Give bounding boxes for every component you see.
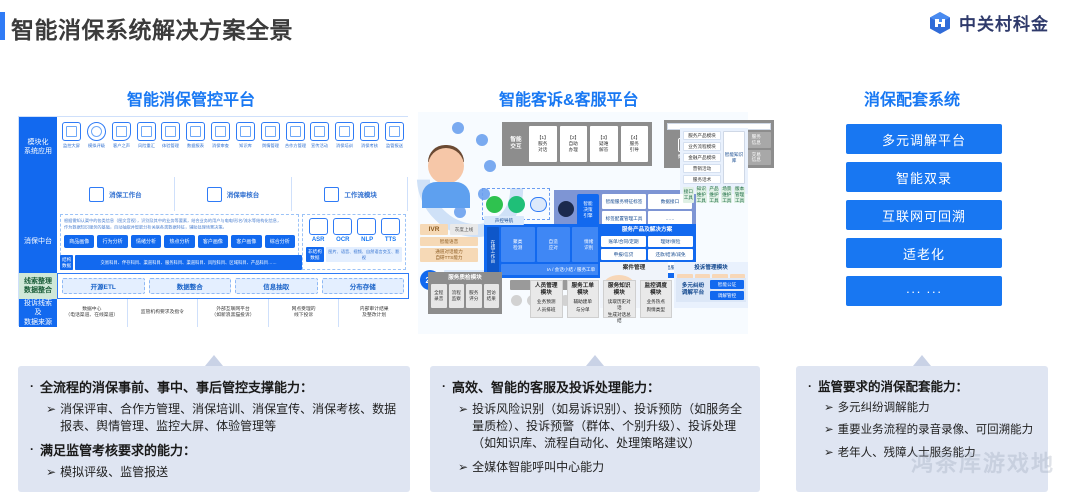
workbench-item[interactable]: 工作流模块 [291, 177, 409, 211]
smart-interaction-box: 智能交互 【1】服务对话【2】自助办理【3】疑难解答【4】服务引导 [502, 122, 652, 166]
callout-right-item-1: ➢ 多元纠纷调解能力 [824, 400, 1038, 417]
knowledge-tool: 场景维护工具 [721, 187, 732, 203]
solution-cell: 申报/信贷 [601, 249, 646, 260]
online-desk-label: 在线工作台 [487, 227, 499, 275]
left-platform-panel: 模块化系统应用 监控大屏模拟评级客户之声风险重汇体验管理数据报表消保审查知识库舆… [18, 116, 408, 326]
module-card-line: 舆情类型 [643, 307, 670, 313]
slide-root: 智能消保系统解决方案全景 中关村科金 智能消保管控平台 智能客诉&客服平台 消保… [0, 0, 1067, 500]
quality-cell: 服务评分 [466, 284, 482, 308]
smart-interaction-item: 【4】服务引导 [621, 126, 649, 162]
callout-mid: · 高效、智能的客服及投诉处理能力： ➢ 投诉风险识别（如易诉识别）、投诉预防（… [430, 366, 760, 492]
ocr-label: OCR [336, 237, 349, 243]
brand-name: 中关村科金 [959, 10, 1049, 35]
service-capability-cell: 聚类检测 [501, 227, 535, 262]
side-spacer-1 [19, 177, 57, 211]
workbench-item[interactable]: 消保工作台 [57, 177, 174, 211]
module-card-line: 与分单 [570, 307, 597, 313]
knowledge-title: 智能知识库 [723, 131, 745, 184]
mediation-cell: 调解管控 [710, 291, 744, 300]
callout-right-heading: · 监管要求的消保配套能力： [808, 378, 1038, 397]
analysis-pill: 情绪分析 [131, 235, 161, 248]
avatar [428, 148, 464, 184]
module-card-line: 业务预测 [533, 299, 560, 305]
knowledge-item: 营销活动 [683, 164, 721, 173]
structured-data-row: 结构数据 交易科目、伴存科目、渠道科目、服务科目、渠道科目、风险科目、区域科目、… [60, 255, 302, 270]
callout-left-heading-1: · 全流程的消保事前、事中、事后管控支撑能力： [30, 378, 400, 398]
training-card-icon [335, 122, 354, 141]
module-icons: 监控大屏模拟评级客户之声风险重汇体验管理数据报表消保审查知识库舆情管理合作方管理… [60, 121, 406, 148]
rating-circle-label: 模拟评级 [86, 143, 107, 148]
service-capability-cell: 自造应对 [537, 227, 571, 262]
review-desk-icon [207, 187, 222, 202]
knowledge-items: 服务产品模块业务流程模块金融产品模块营销活动服务话术 [683, 131, 721, 184]
knowledge-item: 金融产品模块 [683, 153, 721, 162]
module-card-title: 服务工单模块 [570, 283, 597, 297]
arrow-bullet-icon: ➢ [824, 422, 834, 439]
analysis-pill: 行为分析 [97, 235, 127, 248]
knowledge-item: 业务流程模块 [683, 142, 721, 151]
source-item: 外部互联网平台（如新浪黑猫投诉） [197, 299, 268, 327]
knowledge-item: 服务产品模块 [683, 131, 721, 140]
rating-circle-icon [87, 122, 106, 141]
analysis-pill: 热点分析 [164, 235, 194, 248]
module-card: 服务知识模块读取历史对话生成对话总结 [603, 280, 636, 318]
system-button-5[interactable]: ··· ··· [846, 276, 1002, 306]
knowledge-tool: 产品维护工具 [709, 187, 720, 203]
callout-arrow [586, 355, 604, 366]
experience-icon [161, 122, 180, 141]
arrow-bullet-icon: ➢ [458, 401, 468, 418]
quality-cell: 流程监察 [449, 284, 465, 308]
cube-logo-icon [928, 11, 952, 35]
heading-left-platform: 智能消保管控平台 [127, 86, 255, 110]
etl-row: 线索整理数据整合 开源ETL数据整合信息抽取分布存储 [19, 273, 409, 299]
nlp-label: NLP [361, 237, 373, 243]
quality-cell: 回访结果 [484, 284, 500, 308]
mediation-cells: 智能公证调解管控 [710, 280, 744, 300]
workbench-list: 消保工作台消保审核台工作流模块 [57, 177, 409, 211]
ai-labels: ASROCRNLPTTS [306, 237, 402, 243]
chart-line-label: 数据报表 [185, 143, 206, 148]
review-doc-icon [211, 122, 230, 141]
experience-label: 体验管理 [160, 143, 181, 148]
monitor-screen-icon [62, 122, 81, 141]
mediation-title: 多元纠纷调解平台 [678, 280, 708, 300]
unstructured-label: 非结构数据 [306, 247, 324, 262]
arc-dot-1 [452, 122, 464, 134]
module-card: 人员管理模块业务预测人员排班 [530, 280, 563, 318]
arrow-bullet-icon: ➢ [824, 400, 834, 417]
side-label-midplatform: 消保中台 [19, 211, 57, 273]
workbench-item[interactable]: 消保审核台 [174, 177, 292, 211]
analysis-pill: 商品画像 [64, 235, 94, 248]
bullet-dot: · [30, 378, 34, 394]
knowledge-box: 服务产品模块业务流程模块金融产品模块营销活动服务话术 智能知识库 接口工具知识维… [680, 128, 748, 194]
arc-dot-3 [484, 160, 496, 172]
callout-left-item-2: ➢ 模拟评级、监管报送 [46, 464, 400, 481]
midplatform-description: 根据需知认渠中的各类信息（图文音视），识别及其中的业务等要素，结合业务的用户与电… [64, 218, 283, 231]
asr-label: ASR [312, 237, 325, 243]
structured-label: 结构数据 [60, 255, 73, 270]
callout-right-item-3: ➢ 老年人、残障人士服务能力 [824, 445, 1038, 462]
analysis-pill: 客户画像 [198, 235, 228, 248]
heading-right-platform: 消保配套系统 [864, 86, 960, 110]
mid-platform-panel: 24 配置工具 智能交互 【1】服务对话【2】自助办理【3】疑难解答【4】服务引… [418, 112, 748, 334]
douyin-icon[interactable] [508, 196, 525, 213]
decision-cell: 智能服务特征标签 [602, 194, 646, 209]
callout-arrow [205, 355, 223, 366]
workbench-row: 消保工作台消保审核台工作流模块 [19, 177, 409, 211]
opinion-bell-label: 舆情管理 [260, 143, 281, 148]
smart-interaction-item: 【3】疑难解答 [590, 126, 618, 162]
quality-cell: 全程录音 [431, 284, 447, 308]
quality-title: 服务质检模块 [431, 275, 499, 282]
unstructured-text: 图片、语音、视频、自然语言交互、影视 [326, 247, 402, 262]
arrow-bullet-icon: ➢ [46, 401, 56, 418]
source-item: 监管机构要求及指令 [127, 299, 198, 327]
source-item: 数据中心（电话渠道、在线渠道） [57, 299, 127, 327]
partner-people-icon [286, 122, 305, 141]
system-button-4[interactable]: 适老化 [846, 238, 1002, 268]
module-card-title: 监控调度模块 [643, 283, 670, 297]
avatar-body [422, 182, 470, 208]
system-button-2[interactable]: 智能双录 [846, 162, 1002, 192]
tts-icon [381, 218, 400, 235]
etl-item: 数据整合 [149, 278, 232, 294]
solution-cell: 还款/结清/减免 [648, 249, 693, 260]
analysis-pill-list: 商品画像行为分析情绪分析热点分析客户画像客户画像综合分析 [64, 235, 295, 248]
callout-mid-item-2: ➢ 全媒体智能呼叫中心能力 [458, 459, 750, 476]
mediation-cell: 智能公证 [710, 280, 744, 289]
callout-mid-item-1: ➢ 投诉风险识别（如易诉识别）、投诉预防（如服务全量质检）、投诉预警（群体、个别… [458, 401, 750, 453]
monitor-screen-label: 监控大屏 [61, 143, 82, 148]
system-button-1[interactable]: 多元调解平台 [846, 124, 1002, 154]
module-icon-row: 模块化系统应用 监控大屏模拟评级客户之声风险重汇体验管理数据报表消保审查知识库舆… [19, 117, 409, 177]
callout-right-item-2: ➢ 重要业务流程的录音录像、可回溯能力 [824, 422, 1038, 439]
module-card-title: 服务知识模块 [606, 283, 633, 297]
callout-mid-heading: · 高效、智能的客服及投诉处理能力： [442, 378, 750, 398]
grid-workbench-icon [89, 187, 104, 202]
workbench-label: 消保审核台 [227, 189, 260, 199]
callout-left-heading-2: · 满足监管考核要求的能力： [30, 441, 400, 461]
chat-bubble-icon[interactable] [530, 197, 547, 212]
tts-label: TTS [385, 237, 396, 243]
solution-title: 服务产品及解决方案 [601, 227, 693, 234]
module-card-line: 读取历史对话 [606, 299, 633, 310]
arrow-bullet-icon: ➢ [824, 445, 834, 462]
module-card-title: 人员管理模块 [533, 283, 560, 297]
wechat-icon[interactable] [486, 196, 503, 213]
side-label-clue: 线索整理数据整合 [19, 273, 57, 299]
module-card-line: 人员排班 [533, 307, 560, 313]
bullet-dot: · [808, 378, 812, 394]
knowledge-tools: 接口工具知识维护工具产品维护工具场景维护工具版本管理工具 [683, 187, 745, 203]
voice-heart-icon [112, 122, 131, 141]
module-row: 人员管理模块业务预测人员排班服务工单模块辅助建单与分单服务知识模块读取历史对话生… [530, 280, 672, 318]
module-card: 监控调度模块业务热点舆情类型 [640, 280, 673, 318]
module-card-line: 辅助建单 [570, 299, 597, 305]
knowledge-book-label: 知识库 [235, 143, 256, 148]
bullet-dot: · [30, 441, 34, 457]
decision-engine-cells: 智能服务特征标签数据接口标签配置管理工具…… [602, 194, 692, 226]
side-label-modules: 模块化系统应用 [19, 117, 57, 177]
callout-arrow [913, 355, 931, 366]
knowledge-tool: 知识维护工具 [696, 187, 707, 203]
smart-interaction-item: 【1】服务对话 [529, 126, 557, 162]
system-button-3[interactable]: 互联网可回溯 [846, 200, 1002, 230]
partner-people-label: 合作方管理 [285, 143, 306, 148]
voice-nav-chip: 声控导航 [484, 216, 524, 225]
smart-interaction-item: 【2】自助办理 [560, 126, 588, 162]
brand-logo: 中关村科金 [928, 10, 1049, 35]
report-send-icon [385, 122, 404, 141]
ai-capability-box: ASROCRNLPTTS 非结构数据 图片、语音、视频、自然语言交互、影视 [302, 214, 406, 270]
source-row: 投诉线索及数据来源 数据中心（电话渠道、在线渠道）监管机构要求及指令外部互联网平… [19, 299, 409, 327]
smart-interaction-title: 智能交互 [506, 126, 526, 162]
knowledge-tool: 接口工具 [683, 187, 694, 203]
analysis-pill: 客户画像 [231, 235, 261, 248]
etl-item: 信息抽取 [235, 278, 318, 294]
ivr-tts: 通道对话能力自研TTS能力 [420, 248, 478, 262]
callout-right: · 监管要求的消保配套能力： ➢ 多元纠纷调解能力 ➢ 重要业务流程的录音录像、… [796, 366, 1048, 492]
source-list: 数据中心（电话渠道、在线渠道）监管机构要求及指令外部互联网平台（如新浪黑猫投诉）… [57, 299, 409, 327]
nlp-icon [357, 218, 376, 235]
ocr-icon [333, 218, 352, 235]
knowledge-book-icon [236, 122, 255, 141]
knowledge-tool: 版本管理工具 [734, 187, 745, 203]
solution-cell: 账单/合同/定期 [601, 236, 646, 247]
workbench-label: 工作流模块 [344, 189, 377, 199]
assess-check-label: 消保考核 [359, 143, 380, 148]
quality-cells: 全程录音流程监察服务评分回访结果 [431, 284, 499, 308]
etl-list: 开源ETL数据整合信息抽取分布存储 [57, 273, 409, 299]
training-card-label: 消保培训 [334, 143, 355, 148]
complaint-mgmt-title: 投诉管理模块 [677, 265, 745, 272]
source-item: 内部审计结果及整改计划 [338, 299, 409, 327]
arc-dot-2 [476, 134, 488, 146]
ivr-title: IVR [420, 224, 448, 235]
asr-icon [309, 218, 328, 235]
title-accent-bar [0, 12, 5, 40]
ai-icons [306, 218, 402, 235]
callout-left: · 全流程的消保事前、事中、事后管控支撑能力： ➢ 消保评审、合作方管理、消保培… [18, 366, 410, 492]
ivr-box: IVR 灰度上线 智能语音 通道对话能力自研TTS能力 [420, 224, 478, 264]
workflow-clipboard-icon [324, 187, 339, 202]
structured-text: 交易科目、伴存科目、渠道科目、服务科目、渠道科目、风险科目、区域科目、产品科目…… [75, 255, 302, 270]
solution-cell: 理财/保险 [648, 236, 693, 247]
knowledge-item: 服务话术 [683, 175, 721, 184]
right-system-panel: 多元调解平台智能双录互联网可回溯适老化··· ··· [846, 124, 1002, 314]
chart-line-icon [186, 122, 205, 141]
side-label-source: 投诉线索及数据来源 [19, 299, 57, 327]
header: 智能消保系统解决方案全景 中关村科金 [0, 0, 1067, 52]
page-title: 智能消保系统解决方案全景 [11, 11, 293, 45]
case-mgmt-title: 案件管理 [603, 265, 665, 272]
opinion-bell-icon [261, 122, 280, 141]
mediation-box: 多元纠纷调解平台 智能公证调解管控 [676, 278, 746, 302]
realtime-node-1 [511, 295, 522, 306]
assess-check-icon [360, 122, 379, 141]
quality-box: 服务质检模块 全程录音流程监察服务评分回访结果 [428, 272, 502, 314]
source-item: 网点受理的线下投诉 [268, 299, 339, 327]
bullet-dot: · [442, 378, 446, 394]
module-card: 服务工单模块辅助建单与分单 [567, 280, 600, 318]
promo-people-icon [310, 122, 329, 141]
etl-item: 分布存储 [322, 278, 405, 294]
decision-engine-title: 智能决策引擎 [577, 194, 599, 226]
arrow-bullet-icon: ➢ [458, 459, 468, 476]
ivr-status: 灰度上线 [450, 224, 478, 235]
brain-icon [558, 201, 574, 217]
risk-target-label: 风险重汇 [135, 143, 156, 148]
review-doc-label: 消保审查 [210, 143, 231, 148]
arrow-bullet-icon: ➢ [46, 464, 56, 481]
heading-mid-platform: 智能客诉&客服平台 [499, 86, 639, 110]
module-card-line: 生成对话总结 [606, 312, 633, 323]
workbench-label: 消保工作台 [109, 189, 142, 199]
callout-left-item-1: ➢ 消保评审、合作方管理、消保培训、消保宣传、消保考核、数据报表、舆情管理、监控… [46, 401, 400, 436]
module-card-line: 业务热点 [643, 299, 670, 305]
etl-item: 开源ETL [62, 278, 145, 294]
report-send-label: 监管报送 [384, 143, 405, 148]
risk-target-icon [137, 122, 156, 141]
voice-heart-label: 客户之声 [111, 143, 132, 148]
ivr-voice: 智能语音 [420, 237, 478, 246]
analysis-pill: 综合分析 [265, 235, 295, 248]
promo-people-label: 宣传活动 [309, 143, 330, 148]
smart-interaction-items: 【1】服务对话【2】自助办理【3】疑难解答【4】服务引导 [529, 126, 648, 162]
